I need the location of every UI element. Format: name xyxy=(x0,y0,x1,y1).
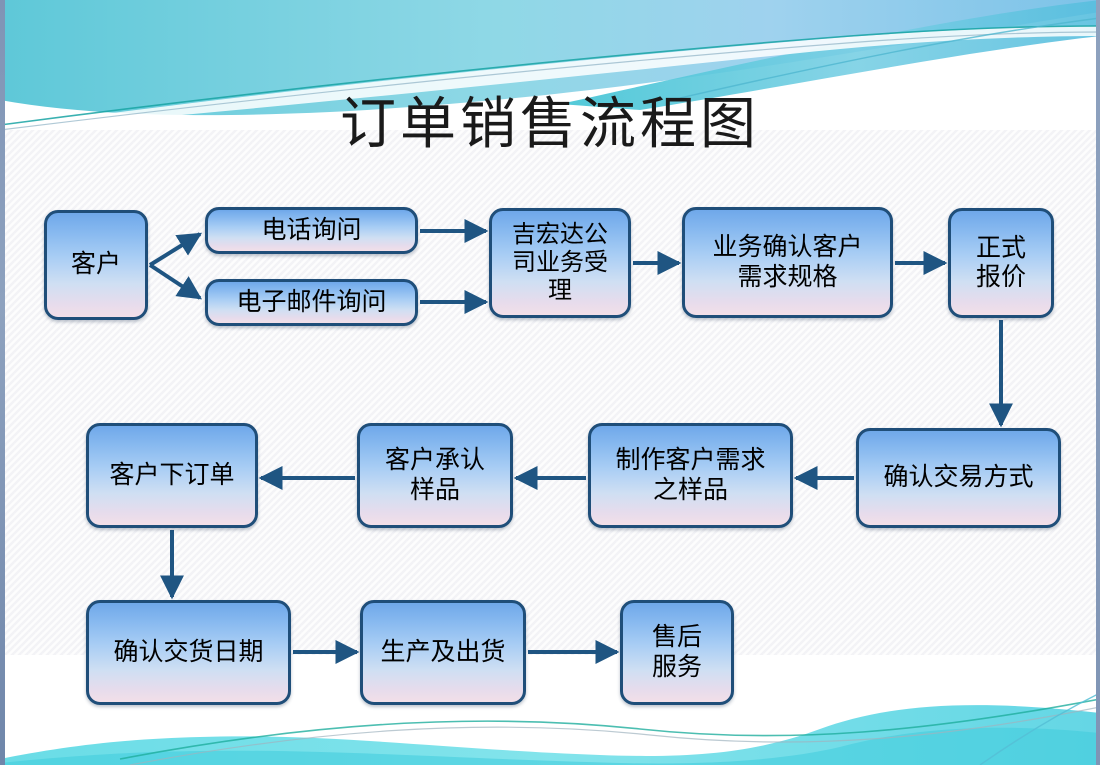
slide-canvas: 订单销售流程图 客户 电话询问 电子邮件询问 吉宏达公 司业务受 理 业务确认客… xyxy=(0,0,1100,765)
flow-node-confirm-delivery-date[interactable]: 确认交货日期 xyxy=(86,600,291,705)
flow-node-after-sales-service[interactable]: 售后 服务 xyxy=(620,600,734,705)
page-title: 订单销售流程图 xyxy=(0,95,1100,157)
flow-node-place-order[interactable]: 客户下订单 xyxy=(86,423,258,528)
edge-n1-n2 xyxy=(150,234,200,265)
slide-right-border xyxy=(1096,0,1100,765)
edge-n1-n3 xyxy=(150,265,200,298)
flow-node-confirm-trade-terms[interactable]: 确认交易方式 xyxy=(856,428,1061,528)
flow-node-company-accept[interactable]: 吉宏达公 司业务受 理 xyxy=(489,208,631,318)
slide-left-border xyxy=(0,0,5,765)
flow-node-formal-quote[interactable]: 正式 报价 xyxy=(948,208,1054,318)
flow-node-customer[interactable]: 客户 xyxy=(44,210,148,320)
flow-node-email-inquiry[interactable]: 电子邮件询问 xyxy=(205,279,418,326)
flow-node-confirm-requirements[interactable]: 业务确认客户 需求规格 xyxy=(682,207,893,318)
flow-node-produce-and-ship[interactable]: 生产及出货 xyxy=(360,600,526,705)
flow-node-phone-inquiry[interactable]: 电话询问 xyxy=(205,207,418,254)
flow-node-customer-approve-sample[interactable]: 客户承认 样品 xyxy=(357,423,513,528)
flow-node-make-sample[interactable]: 制作客户需求 之样品 xyxy=(588,423,793,528)
